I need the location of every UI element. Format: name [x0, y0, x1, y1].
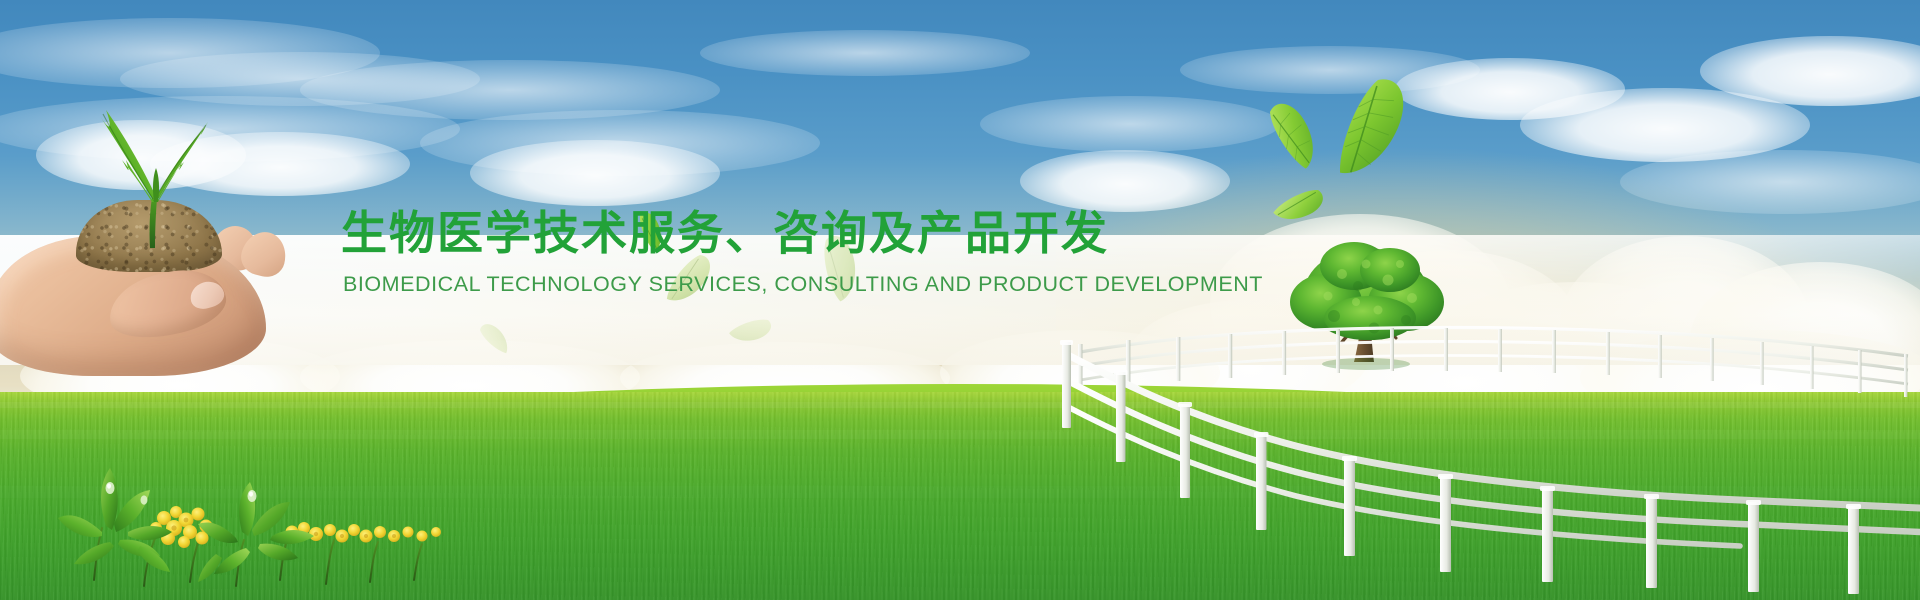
- plant-leaf-cluster-right: [198, 482, 314, 582]
- hero-banner: 生物医学技术服务、咨询及产品开发 BIOMEDICAL TECHNOLOGY S…: [0, 0, 1920, 600]
- page-subtitle: BIOMEDICAL TECHNOLOGY SERVICES, CONSULTI…: [343, 272, 1321, 297]
- fence-far-run: [1078, 328, 1908, 397]
- page-title: 生物医学技术服务、咨询及产品开发: [341, 206, 1321, 260]
- plant-leaf-cluster-left: [58, 468, 172, 572]
- foreground-plants: [40, 440, 460, 600]
- seedling-sprout: [56, 98, 256, 258]
- hand-holding-seedling: [0, 140, 320, 400]
- ranch-fence: [1040, 318, 1920, 518]
- banner-text-block: 生物医学技术服务、咨询及产品开发 BIOMEDICAL TECHNOLOGY S…: [341, 206, 1321, 297]
